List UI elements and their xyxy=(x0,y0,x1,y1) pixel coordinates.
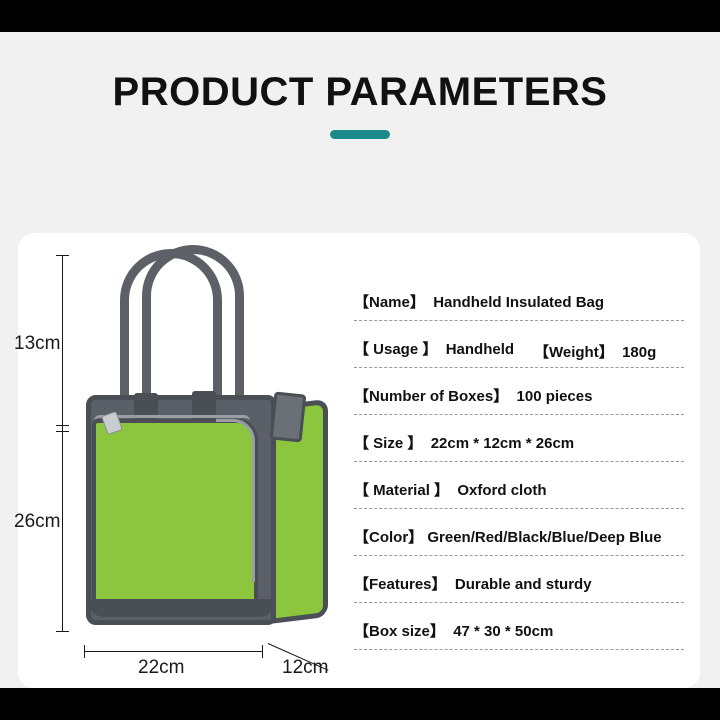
spec-label-size: 【 Size 】 xyxy=(354,435,422,452)
spec-row-features: 【Features】 Durable and sturdy xyxy=(354,571,684,618)
dimension-tick-right xyxy=(262,645,263,658)
spec-divider xyxy=(354,461,684,462)
page-title: PRODUCT PARAMETERS xyxy=(0,72,720,112)
dimension-line-horizontal xyxy=(84,651,262,652)
spec-row-box-size: 【Box size】 47 * 30 * 50cm xyxy=(354,618,684,665)
spec-row-color: 【Color】 Green/Red/Black/Blue/Deep Blue xyxy=(354,524,684,571)
spec-label-weight: 【Weight】 xyxy=(534,344,614,361)
spec-row-usage: 【 Usage 】 Handheld 【Weight】 180g xyxy=(354,336,684,383)
spec-text-box-size: 【Box size】 47 * 30 * 50cm xyxy=(354,623,553,641)
spec-label-features: 【Features】 xyxy=(354,576,447,593)
spec-divider xyxy=(354,555,684,556)
dimension-tick-left xyxy=(84,645,85,658)
spec-value-weight: 180g xyxy=(622,344,656,361)
spec-value-features: Durable and sturdy xyxy=(455,576,592,593)
spec-text-name: 【Name】 Handheld Insulated Bag xyxy=(354,294,604,312)
spec-value-number-of-boxes: 100 pieces xyxy=(517,388,593,405)
spec-divider xyxy=(354,508,684,509)
spec-text-features: 【Features】 Durable and sturdy xyxy=(354,576,592,594)
spec-label-name: 【Name】 xyxy=(354,294,425,311)
dimension-line-vertical xyxy=(62,255,63,631)
spec-row-material: 【 Material 】 Oxford cloth xyxy=(354,477,684,524)
dimension-tick-bottom xyxy=(56,631,69,632)
bag-main-zipper-arc xyxy=(216,419,255,582)
page-surface: PRODUCT PARAMETERS xyxy=(0,32,720,688)
bag-illustration xyxy=(76,243,326,643)
spec-row-number-of-boxes: 【Number of Boxes】 100 pieces xyxy=(354,383,684,430)
spec-label-usage: 【 Usage 】 xyxy=(354,341,437,358)
spec-value-color: Green/Red/Black/Blue/Deep Blue xyxy=(427,529,661,546)
spec-label-box-size: 【Box size】 xyxy=(354,623,445,640)
spec-divider xyxy=(354,367,684,368)
spec-divider xyxy=(354,649,684,650)
spec-text-weight: 【Weight】 180g xyxy=(534,341,656,362)
dimension-label-width: 22cm xyxy=(138,657,184,679)
spec-text-size: 【 Size 】 22cm * 12cm * 26cm xyxy=(354,435,574,453)
spec-text-usage: 【 Usage 】 Handheld xyxy=(354,341,514,359)
dimension-tick-top xyxy=(56,255,69,256)
spec-divider xyxy=(354,320,684,321)
spec-text-number-of-boxes: 【Number of Boxes】 100 pieces xyxy=(354,388,592,406)
dimension-tick-mid-lower xyxy=(56,431,69,432)
title-underline-bar xyxy=(330,130,390,139)
spec-divider xyxy=(354,602,684,603)
spec-row-name: 【Name】 Handheld Insulated Bag xyxy=(354,289,684,336)
spec-label-number-of-boxes: 【Number of Boxes】 xyxy=(354,388,508,405)
letterbox-top xyxy=(0,0,720,32)
spec-label-material: 【 Material 】 xyxy=(354,482,449,499)
spec-row-size: 【 Size 】 22cm * 12cm * 26cm xyxy=(354,430,684,477)
spec-text-material: 【 Material 】 Oxford cloth xyxy=(354,482,547,500)
spec-value-size: 22cm * 12cm * 26cm xyxy=(431,435,574,452)
page-header: PRODUCT PARAMETERS xyxy=(0,72,720,139)
content-card: 13cm 26cm 22cm 12cm 【Name】 Handheld Insu… xyxy=(18,233,700,688)
bag-side-tab xyxy=(270,391,307,442)
bag-bottom-trim xyxy=(88,599,274,617)
product-image-panel: 13cm 26cm 22cm 12cm xyxy=(18,233,348,688)
spec-divider xyxy=(354,414,684,415)
spec-value-usage: Handheld xyxy=(446,341,514,358)
spec-text-color: 【Color】 Green/Red/Black/Blue/Deep Blue xyxy=(354,529,662,547)
dimension-label-height-top: 13cm xyxy=(14,333,60,355)
dimension-label-depth: 12cm xyxy=(282,657,328,679)
spec-value-name: Handheld Insulated Bag xyxy=(433,294,604,311)
spec-value-material: Oxford cloth xyxy=(457,482,546,499)
specs-list: 【Name】 Handheld Insulated Bag 【 Usage 】 … xyxy=(354,289,684,665)
letterbox-bottom xyxy=(0,688,720,720)
dimension-tick-mid-upper xyxy=(56,425,69,426)
dimension-label-height-bottom: 26cm xyxy=(14,511,60,533)
screenshot-stage: PRODUCT PARAMETERS xyxy=(0,0,720,720)
spec-value-box-size: 47 * 30 * 50cm xyxy=(453,623,553,640)
spec-label-color: 【Color】 xyxy=(354,529,423,546)
